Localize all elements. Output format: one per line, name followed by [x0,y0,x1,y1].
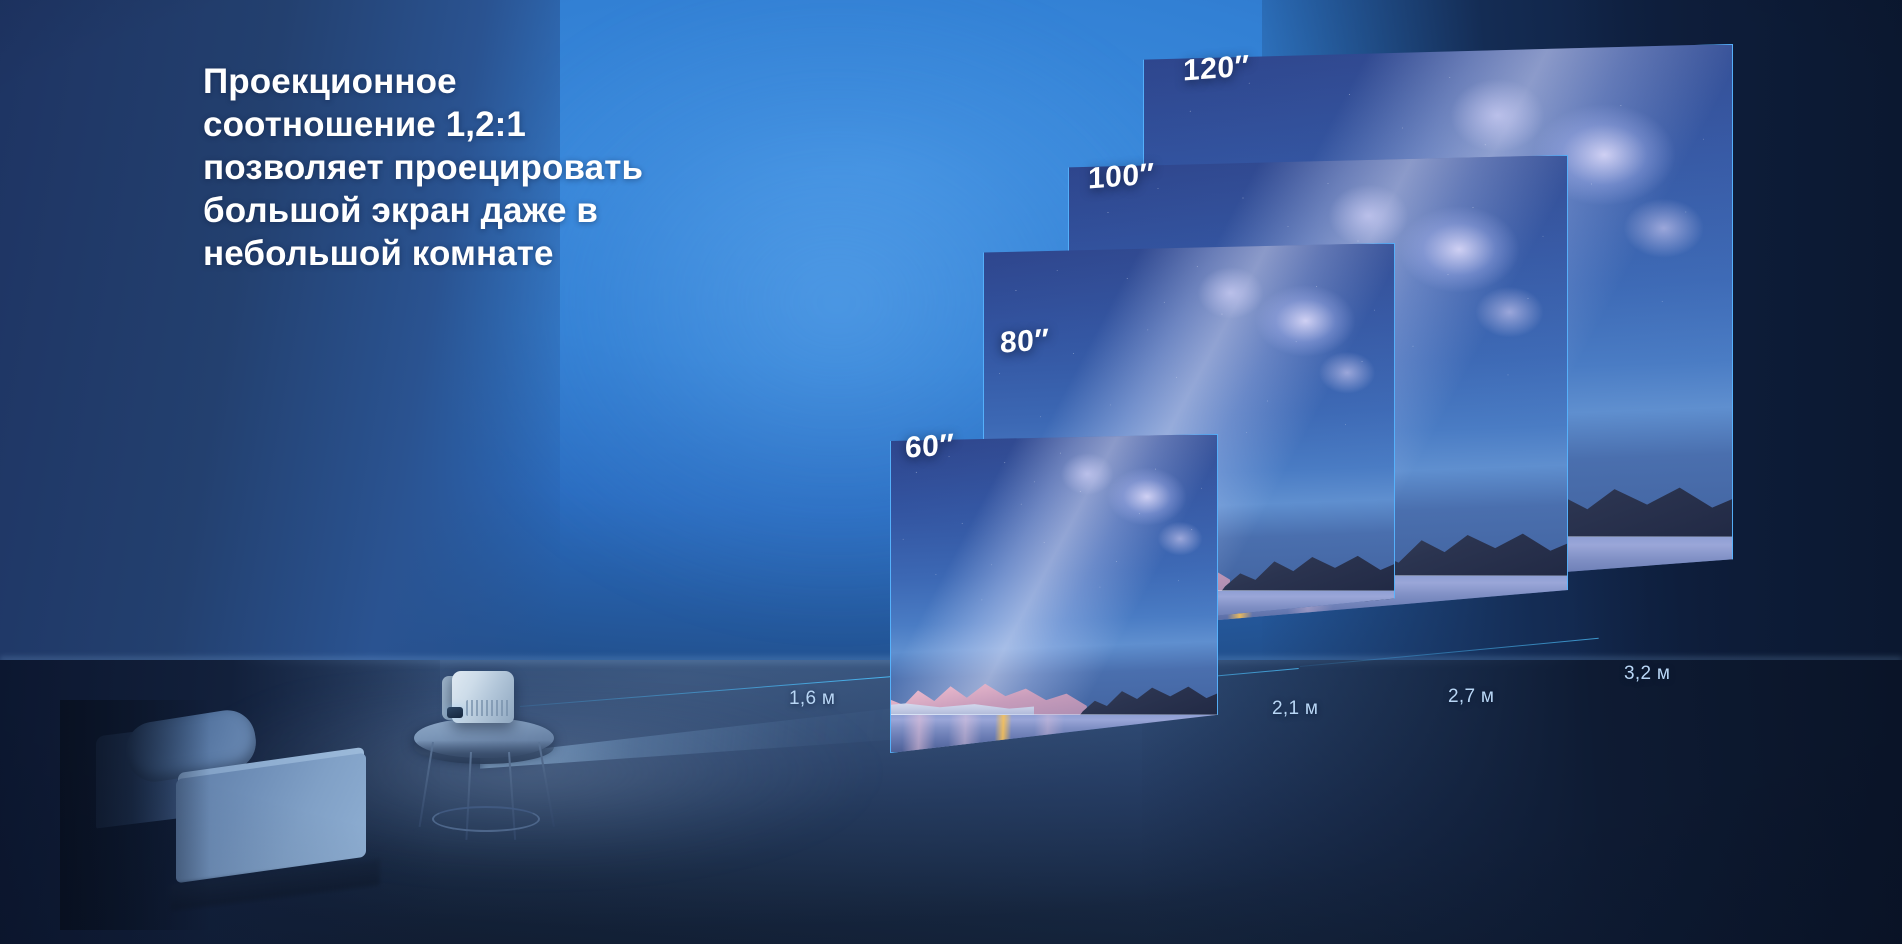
headline-line-3: позволяет проецировать [203,146,843,189]
distance-label-60: 1,6 м [789,688,835,710]
headline-line-4: большой экран даже в [203,189,843,232]
size-label-80: 80″ [1000,323,1049,361]
page-title: Проекционное соотношение 1,2:1 позволяет… [203,60,843,275]
headline-line-2: соотношение 1,2:1 [203,103,843,146]
size-label-100: 100″ [1088,158,1154,197]
screen-60-haze [890,434,1218,753]
distance-label-100: 2,7 м [1448,686,1494,708]
distance-label-120: 3,2 м [1624,663,1670,685]
screen-60[interactable] [890,434,1218,753]
side-table-edge [414,730,554,764]
size-label-60: 60″ [905,428,954,466]
headline-line-1: Проекционное [203,60,843,103]
projector-lens [447,707,463,718]
floor-right-shadow [1142,660,1902,944]
promo-banner: Проекционное соотношение 1,2:1 позволяет… [0,0,1902,944]
headline-line-5: небольшой комнате [203,232,843,275]
side-table-ring [432,806,540,832]
armchair-shadow [60,700,210,930]
projector-vents [466,700,510,716]
distance-label-80: 2,1 м [1272,698,1318,720]
size-label-120: 120″ [1183,50,1249,89]
